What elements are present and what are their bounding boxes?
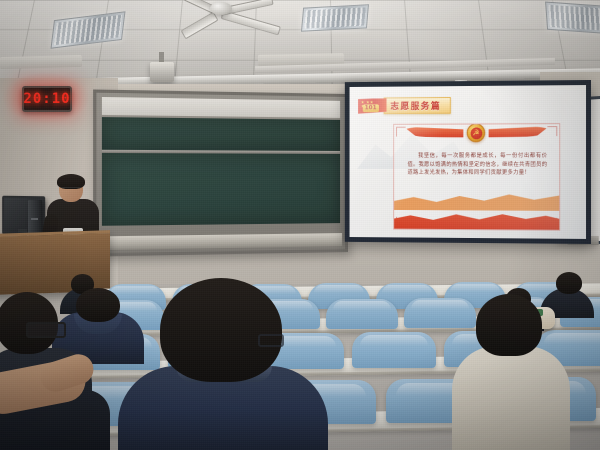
student-cream-sweater xyxy=(452,294,570,450)
slide-content-card: ☭ 我坚信，每一次服务都是成长，每一份付出都有价值。我愿以饱满的热情和坚定的信念… xyxy=(393,123,560,231)
eyeglasses-icon xyxy=(26,322,66,338)
wave-red xyxy=(394,210,559,230)
fluorescent-light-panel xyxy=(545,2,600,35)
student-head xyxy=(556,272,582,294)
emblem-glyph: ☭ xyxy=(470,127,482,139)
ceiling-projector xyxy=(150,62,174,82)
anniversary-badge: 101 xyxy=(363,104,379,112)
curtain-valance xyxy=(0,55,82,69)
chalkboard-surface-upper xyxy=(102,117,340,151)
student-front-left xyxy=(0,360,110,450)
pc-tower xyxy=(28,200,42,236)
student-head xyxy=(476,294,542,356)
seat xyxy=(326,299,398,329)
student-torso xyxy=(452,346,570,450)
eyeglasses-icon xyxy=(258,334,284,347)
seat xyxy=(352,332,436,368)
wave-orange xyxy=(394,188,559,210)
hammer-and-sickle-emblem: ☭ xyxy=(467,123,485,142)
wing-right xyxy=(489,126,550,137)
red-flag-icon: ★ ★★★★ 101 xyxy=(358,98,386,114)
emblem-wings: ☭ xyxy=(404,123,550,141)
slide-surface: ★ ★★★★ 101 志愿服务篇 ☭ xyxy=(350,85,586,239)
slide-title-text: 志愿服务篇 xyxy=(390,99,441,112)
chalk-tray xyxy=(100,233,342,250)
wing-left xyxy=(404,126,464,137)
slide-title-ribbon: ★ ★★★★ 101 志愿服务篇 xyxy=(358,97,451,114)
clock-time-text: 20:10 xyxy=(23,91,70,107)
classroom-photo: 20:10 ★ ★★★★ 101 志愿服务篇 xyxy=(0,0,600,450)
fluorescent-light-panel xyxy=(301,4,369,32)
slide-body-text: 我坚信，每一次服务都是成长，每一份付出都有价值。我愿以饱满的热情和坚定的信念，继… xyxy=(408,152,548,178)
led-wall-clock: 20:10 xyxy=(22,86,72,112)
ceiling-fan-hub xyxy=(210,2,232,15)
student-head xyxy=(160,278,282,382)
chalkboard-top-panel xyxy=(102,97,340,118)
presenter-glasses xyxy=(61,187,81,192)
slide-wave-decoration xyxy=(394,188,559,229)
projection-screen: ★ ★★★★ 101 志愿服务篇 ☭ xyxy=(345,80,591,244)
chalkboard-surface-lower xyxy=(102,153,340,226)
student-with-laptop xyxy=(118,278,328,450)
green-chalkboard xyxy=(93,89,348,256)
ribbon-bar: 志愿服务篇 xyxy=(384,97,451,114)
